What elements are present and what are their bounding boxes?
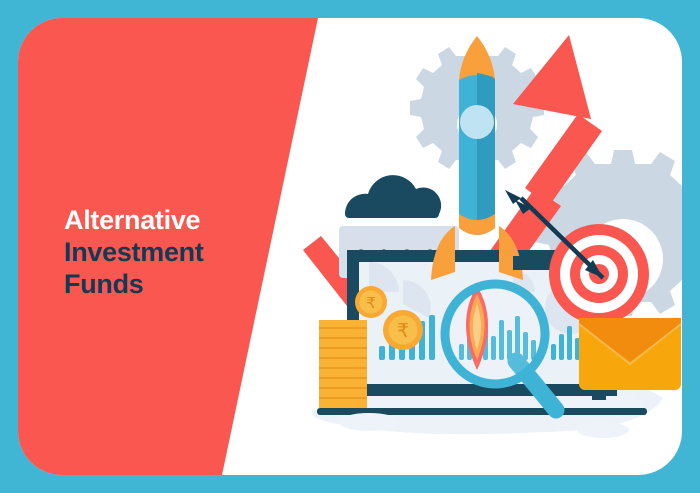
title-line-1: Alternative [64, 204, 294, 236]
coin-rupee-small: ₹ [355, 286, 387, 318]
cloud-navy-top [345, 175, 441, 218]
hero-illustration: ₹ ₹ [273, 18, 682, 475]
coin-rupee-large: ₹ [383, 310, 423, 350]
title-line-2: Investment [64, 236, 294, 268]
page-title: Alternative Investment Funds [64, 204, 294, 300]
envelope [579, 318, 681, 390]
title-line-3: Funds [64, 268, 294, 300]
svg-text:₹: ₹ [366, 294, 376, 312]
svg-text:₹: ₹ [397, 320, 409, 342]
banner-card: Alternative Investment Funds [18, 18, 682, 475]
banner: Alternative Investment Funds [0, 0, 700, 493]
coin-stack [319, 320, 367, 408]
